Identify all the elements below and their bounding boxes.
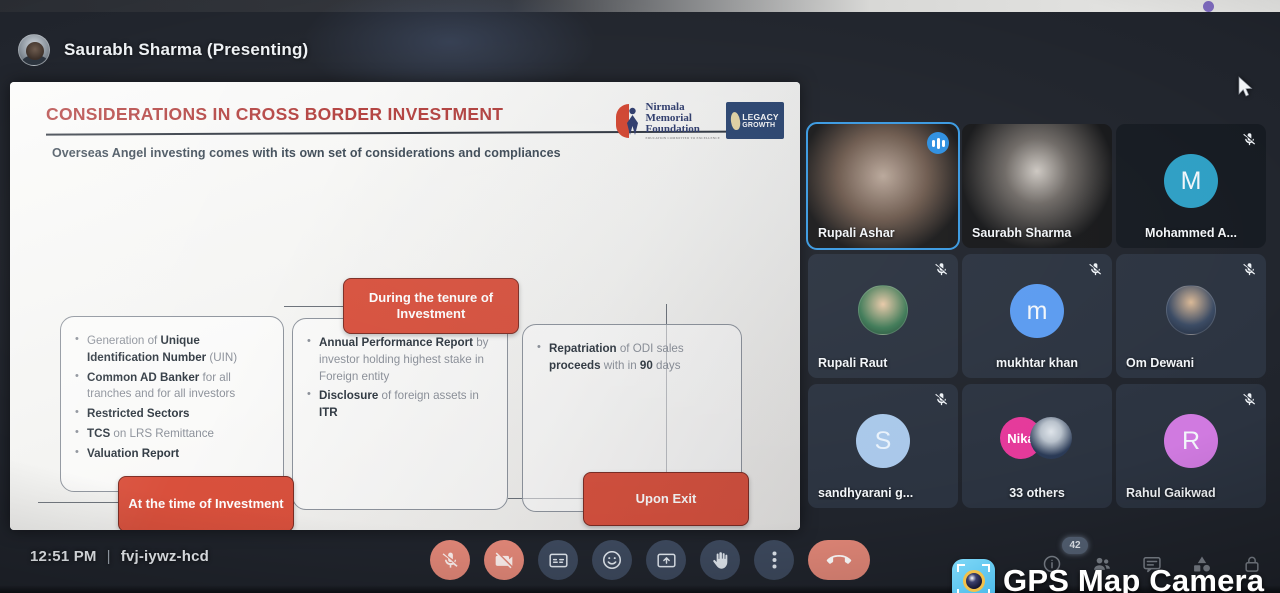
mic-off-icon	[934, 392, 949, 407]
emoji-reaction-button[interactable]	[592, 540, 632, 580]
mic-off-icon	[1242, 132, 1257, 147]
list-item: TCS on LRS Remittance	[73, 426, 269, 443]
participant-name: Rupali Ashar	[818, 226, 950, 240]
participant-tile-rupali-ashar[interactable]: Rupali Ashar	[808, 124, 958, 248]
avatar-initial: R	[1164, 414, 1218, 468]
present-screen-icon	[656, 550, 677, 571]
leave-call-button[interactable]	[808, 540, 870, 580]
camera-off-button[interactable]	[484, 540, 524, 580]
nirmala-memorial-foundation-logo: Nirmala Memorial Foundation EDUCATION CO…	[616, 102, 721, 140]
slide-diagram: Generation of Unique Identification Numb…	[30, 200, 780, 510]
gps-map-camera-watermark: GPS Map Camera	[952, 559, 1264, 593]
slide-canvas: CONSIDERATIONS IN CROSS BORDER INVESTMEN…	[10, 82, 800, 530]
considerations-box-at-time: Generation of Unique Identification Numb…	[60, 316, 284, 492]
google-meet-window: Saurabh Sharma (Presenting) CONSIDERATIO…	[0, 12, 1280, 593]
participant-tile-mukhtar-khan[interactable]: m mukhtar khan	[962, 254, 1112, 378]
avatar-initial: S	[856, 414, 910, 468]
list-item: Common AD Banker for all tranches and fo…	[73, 370, 269, 404]
avatar	[1166, 285, 1216, 335]
participant-name: Rahul Gaikwad	[1126, 486, 1258, 500]
raise-hand-icon	[710, 550, 731, 571]
mic-off-icon	[1242, 392, 1257, 407]
nmf-line3: Foundation	[646, 124, 721, 135]
presenting-bar: Saurabh Sharma (Presenting)	[0, 24, 1280, 76]
shared-screen-slide[interactable]: CONSIDERATIONS IN CROSS BORDER INVESTMEN…	[10, 82, 800, 530]
participant-name: Mohammed A...	[1116, 226, 1266, 240]
legacy-wordmark: LEGACY GROWTH	[742, 113, 779, 129]
connector-line-during	[284, 306, 344, 307]
participant-tile-saurabh-sharma[interactable]: Saurabh Sharma	[962, 124, 1112, 248]
avatar	[858, 285, 908, 335]
legacy-growth-logo: LEGACY GROWTH	[726, 102, 784, 139]
avatar	[1030, 417, 1072, 459]
list-item: Generation of Unique Identification Numb…	[73, 333, 269, 367]
connector-line-attime	[38, 502, 120, 503]
participant-name: sandhyarani g...	[818, 486, 950, 500]
meeting-code[interactable]: fvj-iywz-hcd	[121, 548, 209, 565]
participant-tile-rupali-raut[interactable]: Rupali Raut	[808, 254, 958, 378]
participant-name: Rupali Raut	[818, 356, 950, 370]
tag-at-time-of-investment: At the time of Investment	[118, 476, 294, 530]
mic-off-icon	[1242, 262, 1257, 277]
captions-icon	[548, 550, 569, 571]
box1-bullet-list: Generation of Unique Identification Numb…	[73, 333, 269, 463]
slide-subtitle: Overseas Angel investing comes with its …	[52, 146, 780, 160]
participant-name: Om Dewani	[1126, 356, 1258, 370]
list-item: Restricted Sectors	[73, 406, 269, 423]
participant-tile-sandhyarani-g[interactable]: S sandhyarani g...	[808, 384, 958, 508]
nmf-mark-icon	[616, 104, 642, 138]
hang-up-icon	[826, 547, 852, 573]
kebab-menu-icon	[772, 550, 777, 570]
raise-hand-button[interactable]	[700, 540, 740, 580]
considerations-box-during-tenure: Annual Performance Report by investor ho…	[292, 318, 508, 510]
mic-off-icon	[1088, 262, 1103, 277]
meeting-info: 12:51 PM | fvj-iywz-hcd	[30, 548, 209, 565]
others-avatar-stack: Nika	[1000, 417, 1074, 461]
tag-upon-exit: Upon Exit	[583, 472, 749, 526]
more-options-button[interactable]	[754, 540, 794, 580]
participant-name: 33 others	[962, 486, 1112, 500]
meeting-info-separator: |	[107, 548, 111, 565]
box3-bullet-list: Repatriation of ODI sales proceeds with …	[535, 341, 727, 375]
list-item: Annual Performance Report by investor ho…	[305, 335, 493, 385]
legacy-line1: LEGACY	[742, 113, 779, 122]
legacy-leaf-icon	[730, 111, 741, 130]
list-item: Disclosure of foreign assets in ITR	[305, 388, 493, 422]
mic-off-icon	[934, 262, 949, 277]
avatar-initial: M	[1164, 154, 1218, 208]
camera-off-icon	[494, 550, 514, 570]
photographed-screen: Saurabh Sharma (Presenting) CONSIDERATIO…	[0, 0, 1280, 593]
gps-map-camera-label: GPS Map Camera	[1003, 563, 1264, 593]
participant-tile-others[interactable]: Nika 33 others	[962, 384, 1112, 508]
mic-off-icon	[441, 551, 460, 570]
presenter-avatar	[18, 34, 50, 66]
presenting-label: Saurabh Sharma (Presenting)	[64, 40, 308, 60]
legacy-line2: GROWTH	[742, 122, 779, 129]
captions-button[interactable]	[538, 540, 578, 580]
avatar-initial: m	[1010, 284, 1064, 338]
present-screen-button[interactable]	[646, 540, 686, 580]
slide-logos: Nirmala Memorial Foundation EDUCATION CO…	[616, 102, 785, 140]
nmf-tagline: EDUCATION COMMITTED TO EXCELLENCE	[646, 137, 721, 140]
participant-name: Saurabh Sharma	[972, 226, 1104, 240]
nmf-figure-icon	[625, 107, 640, 136]
meeting-time: 12:51 PM	[30, 548, 97, 565]
participant-tile-mohammed-a[interactable]: M Mohammed A...	[1116, 124, 1266, 248]
participant-name: mukhtar khan	[962, 356, 1112, 370]
speaking-indicator-icon	[927, 132, 949, 154]
participant-tile-om-dewani[interactable]: Om Dewani	[1116, 254, 1266, 378]
browser-profile-avatar[interactable]	[1203, 1, 1214, 12]
smiley-icon	[601, 549, 623, 571]
nmf-wordmark: Nirmala Memorial Foundation EDUCATION CO…	[646, 102, 721, 140]
microphone-off-button[interactable]	[430, 540, 470, 580]
list-item: Valuation Report	[73, 446, 269, 463]
tag-during-tenure: During the tenure of Investment	[343, 278, 519, 334]
gps-map-camera-icon	[952, 559, 995, 593]
participant-count-badge[interactable]: 42	[1062, 537, 1088, 554]
participant-grid: Rupali Ashar Saurabh Sharma M Mohammed A…	[808, 124, 1272, 514]
list-item: Repatriation of ODI sales proceeds with …	[535, 341, 727, 375]
box2-bullet-list: Annual Performance Report by investor ho…	[305, 335, 493, 422]
participant-tile-rahul-gaikwad[interactable]: R Rahul Gaikwad	[1116, 384, 1266, 508]
call-controls	[430, 540, 870, 580]
